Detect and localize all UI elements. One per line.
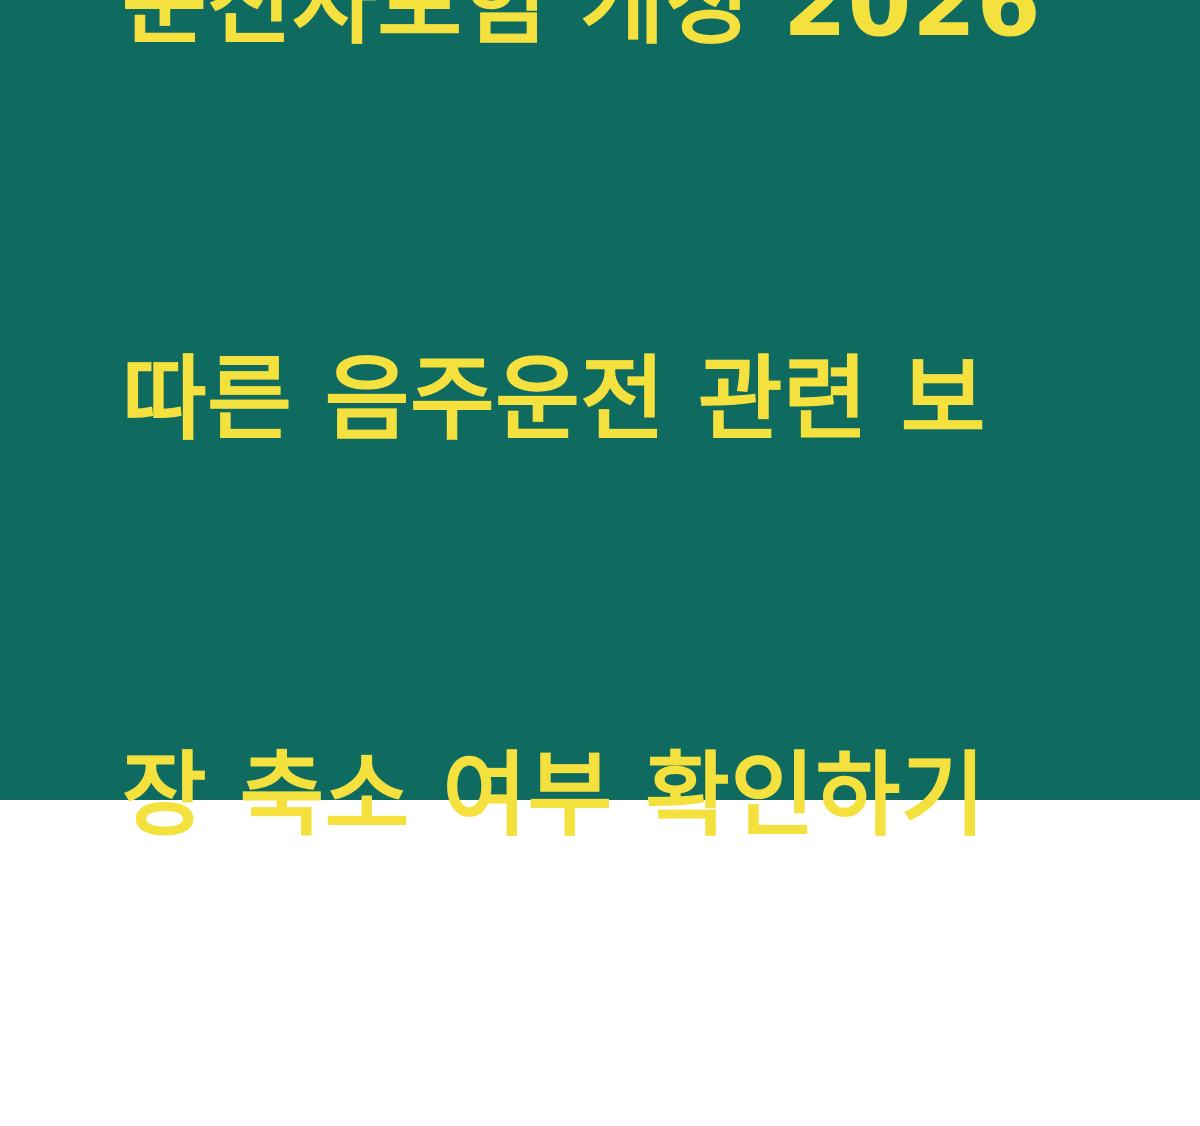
banner-canvas: 운전자보험 개정 2026 따른 음주운전 관련 보 장 축소 여부 확인하기: [0, 0, 1200, 800]
headline-line-3: 장 축소 여부 확인하기: [122, 730, 1102, 862]
headline-line-2: 따른 음주운전 관련 보: [122, 334, 1102, 466]
headline-line-1: 운전자보험 개정 2026: [122, 0, 1102, 70]
banner-headline: 운전자보험 개정 2026 따른 음주운전 관련 보 장 축소 여부 확인하기: [122, 0, 1102, 1126]
